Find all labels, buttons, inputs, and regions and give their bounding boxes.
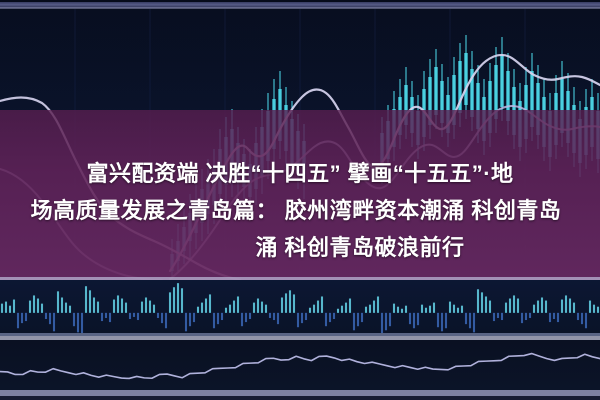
index-line-chart [0, 340, 600, 390]
index-line-series [0, 354, 600, 379]
volume-bar-group [1, 283, 599, 333]
bottom-edge [0, 396, 600, 400]
volume-chart-panel [0, 280, 600, 333]
headline-line-3: 涌 科创青岛破浪前行 [120, 229, 600, 266]
volume-histogram [0, 280, 600, 333]
headline-line-2: 场高质量发展之青岛篇： 胶州湾畔资本潮涌 科创青岛 [0, 192, 600, 229]
index-chart-panel [0, 340, 600, 390]
page-title: 富兴配资端 决胜“十四五” 擘画“十五五”·地 场高质量发展之青岛篇： 胶州湾畔… [0, 155, 600, 266]
headline-line-1: 富兴配资端 决胜“十四五” 擘画“十五五”·地 [0, 155, 600, 192]
banner-image: 富兴配资端 决胜“十四五” 擘画“十五五”·地 场高质量发展之青岛篇： 胶州湾畔… [0, 0, 600, 400]
